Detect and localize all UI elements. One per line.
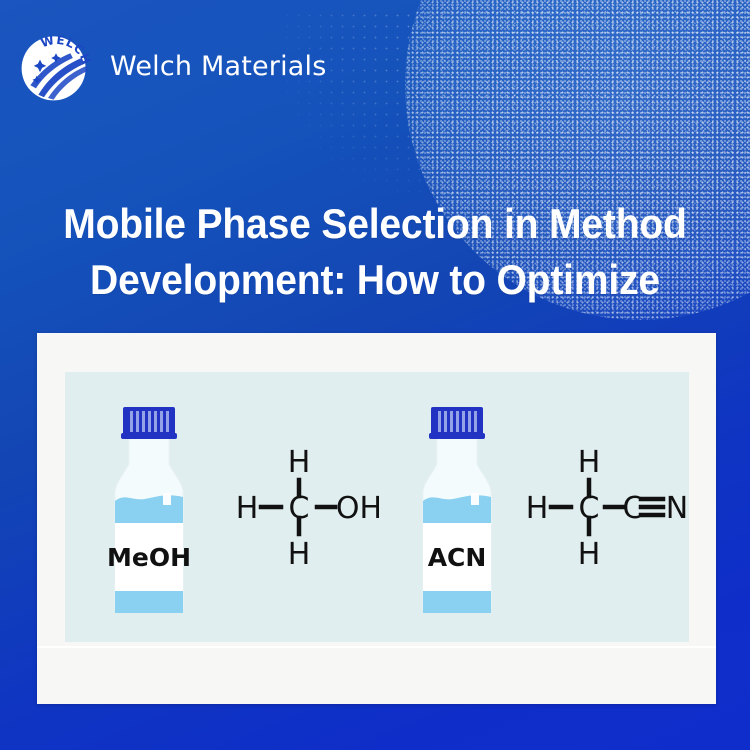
illustration-card: MeOH (37, 333, 716, 704)
atom-far-right-acn: N (666, 491, 687, 526)
methanol-structure-icon: H H C OH H (219, 442, 379, 572)
page-title-line-1: Mobile Phase Selection in Method (54, 196, 696, 252)
bottle-label-text-acn: ACN (428, 543, 487, 572)
atom-right-meoh: OH (336, 491, 379, 526)
illustration-panel: MeOH (65, 372, 689, 642)
brand-name: Welch Materials (110, 51, 327, 82)
atom-top-acn: H (578, 445, 601, 480)
atom-left-acn: H (527, 491, 548, 526)
bottle-cap-meoh (121, 407, 177, 439)
solvent-unit-meoh: MeOH (97, 372, 379, 642)
poster-canvas: WELCH Welch Materials Mobile Phase Selec… (0, 0, 750, 750)
atom-left-meoh: H (236, 491, 259, 526)
atom-center-meoh: C (289, 491, 310, 526)
page-title-line-2: Development: How to Optimize (54, 252, 696, 308)
page-title: Mobile Phase Selection in Method Develop… (26, 196, 724, 308)
solvent-unit-acn: ACN (405, 372, 687, 642)
card-divider (37, 646, 716, 648)
solvent-bottle-meoh: MeOH (97, 401, 201, 613)
welch-globe-logo-icon: WELCH (16, 26, 96, 106)
bottle-label-text-meoh: MeOH (107, 543, 191, 572)
atom-bottom-meoh: H (288, 537, 311, 572)
atom-top-meoh: H (288, 445, 311, 480)
bottle-cap-acn (429, 407, 485, 439)
atom-right-acn: C (623, 491, 644, 526)
atom-bottom-acn: H (578, 537, 601, 572)
acetonitrile-structure-icon: H H C C N H (527, 442, 687, 572)
solvent-bottle-acn: ACN (405, 401, 509, 613)
brand-header: WELCH Welch Materials (16, 26, 327, 106)
atom-center-acn: C (579, 491, 600, 526)
